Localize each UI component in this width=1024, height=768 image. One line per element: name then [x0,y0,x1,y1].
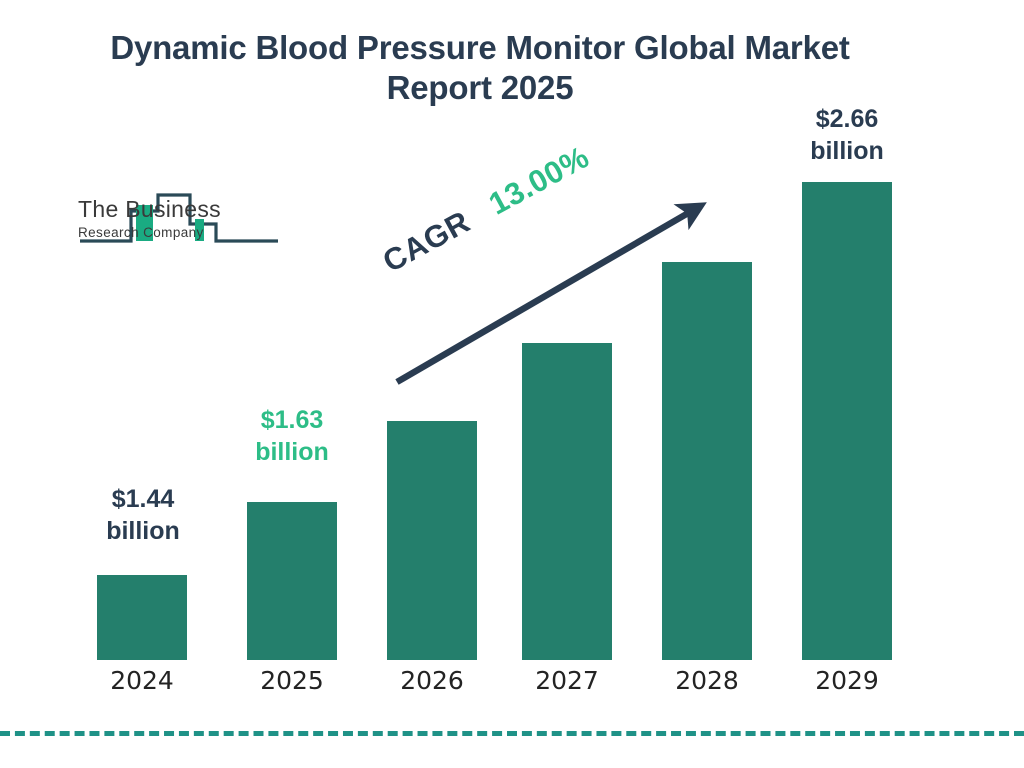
value-label-2029: $2.66 billion [787,103,907,167]
value-label-2024-unit: billion [83,515,203,547]
bar-2029 [802,182,892,660]
x-tick-2026: 2026 [387,666,477,695]
bar-chart: 2024 2025 2026 2027 2028 2029 $1.44 bill… [0,0,1024,768]
x-tick-2024: 2024 [97,666,187,695]
x-tick-2025: 2025 [247,666,337,695]
value-label-2029-amount: $2.66 [787,103,907,135]
value-label-2024: $1.44 billion [83,483,203,547]
value-label-2024-amount: $1.44 [83,483,203,515]
bar-2028 [662,262,752,660]
cagr-annotation: CAGR 13.00% [377,91,688,287]
footer-divider [0,731,1024,736]
bar-2025 [247,502,337,660]
value-label-2029-unit: billion [787,135,907,167]
bar-2027 [522,343,612,660]
cagr-label: CAGR [377,204,476,279]
value-label-2025-amount: $1.63 [232,404,352,436]
value-label-2025-unit: billion [232,436,352,468]
cagr-value: 13.00% [483,139,595,221]
bar-2026 [387,421,477,660]
value-label-2025: $1.63 billion [232,404,352,468]
x-tick-2028: 2028 [662,666,752,695]
x-tick-2027: 2027 [522,666,612,695]
x-tick-2029: 2029 [802,666,892,695]
bar-2024 [97,575,187,660]
